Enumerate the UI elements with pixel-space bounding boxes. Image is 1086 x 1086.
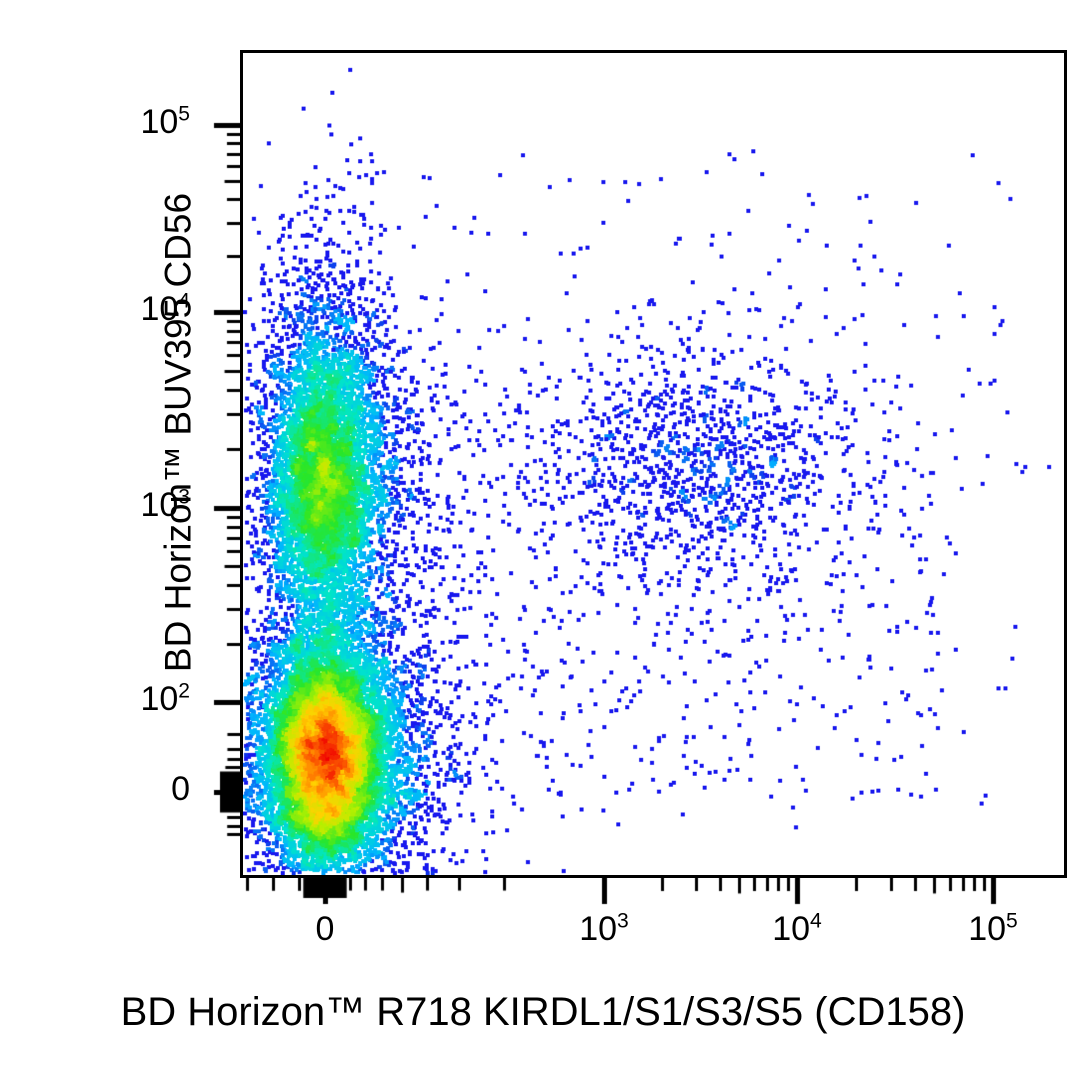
y-axis-ticks (196, 50, 242, 878)
flow-cytometry-figure: BD Horizon™ BUV395 CD56 1051041031020 01… (0, 0, 1086, 1086)
x-axis-title: BD Horizon™ R718 KIRDL1/S1/S3/S5 (CD158) (0, 992, 1086, 1032)
scatter-density-plot[interactable] (243, 53, 1064, 875)
plot-area[interactable] (240, 50, 1067, 878)
y-axis-title: BD Horizon™ BUV395 CD56 (160, 53, 197, 813)
x-axis-ticks (240, 876, 1067, 922)
